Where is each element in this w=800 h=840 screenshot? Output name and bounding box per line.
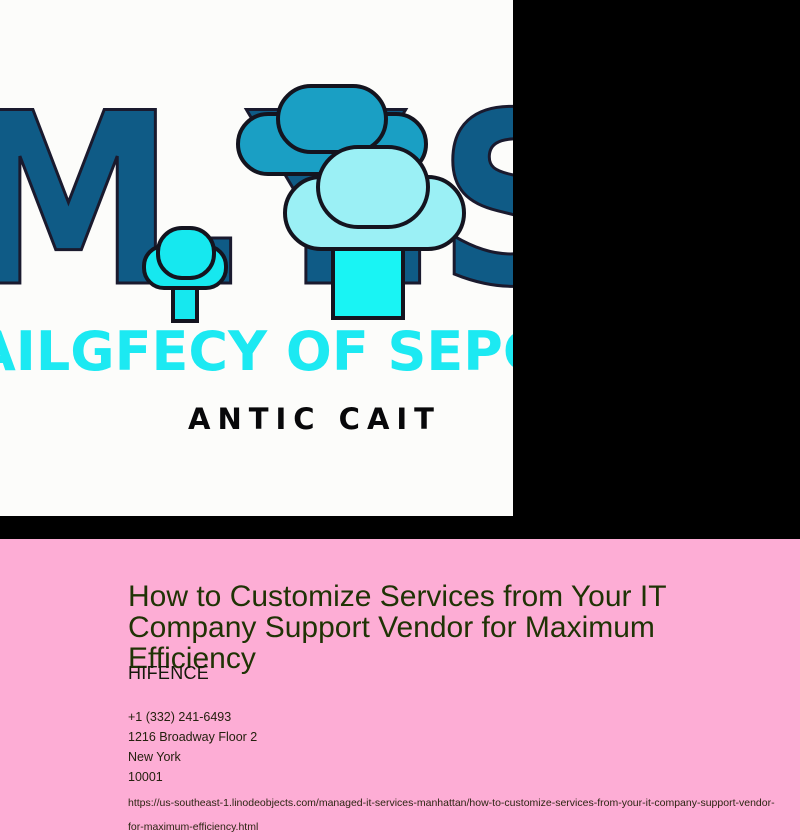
contact-info-block: +1 (332) 241-6493 1216 Broadway Floor 2 … — [128, 707, 768, 787]
company-logo-image: M.Y.S AILGFECY OF SEPCCT ANTIC CAIT — [0, 0, 513, 516]
contact-phone: +1 (332) 241-6493 — [128, 707, 768, 727]
cloud-small-icon — [142, 218, 220, 310]
source-url-link[interactable]: https://us-southeast-1.linodeobjects.com… — [128, 791, 800, 839]
logo-tagline-text: AILGFECY OF SEPCCT — [0, 323, 513, 381]
logo-subtagline-text: ANTIC CAIT — [188, 402, 513, 436]
page-title: How to Customize Services from Your IT C… — [128, 581, 738, 674]
contact-street: 1216 Broadway Floor 2 — [128, 727, 768, 747]
hero-media-band: M.Y.S AILGFECY OF SEPCCT ANTIC CAIT — [0, 0, 800, 539]
contact-zip: 10001 — [128, 767, 768, 787]
article-content-panel: How to Customize Services from Your IT C… — [0, 539, 800, 840]
source-url-line-2: for-maximum-efficiency.html — [128, 815, 800, 839]
source-url-line-1: https://us-southeast-1.linodeobjects.com… — [128, 797, 775, 809]
brand-name-label: HIFENCE — [128, 662, 209, 684]
contact-city: New York — [128, 747, 768, 767]
cloud-light-icon — [283, 142, 458, 314]
